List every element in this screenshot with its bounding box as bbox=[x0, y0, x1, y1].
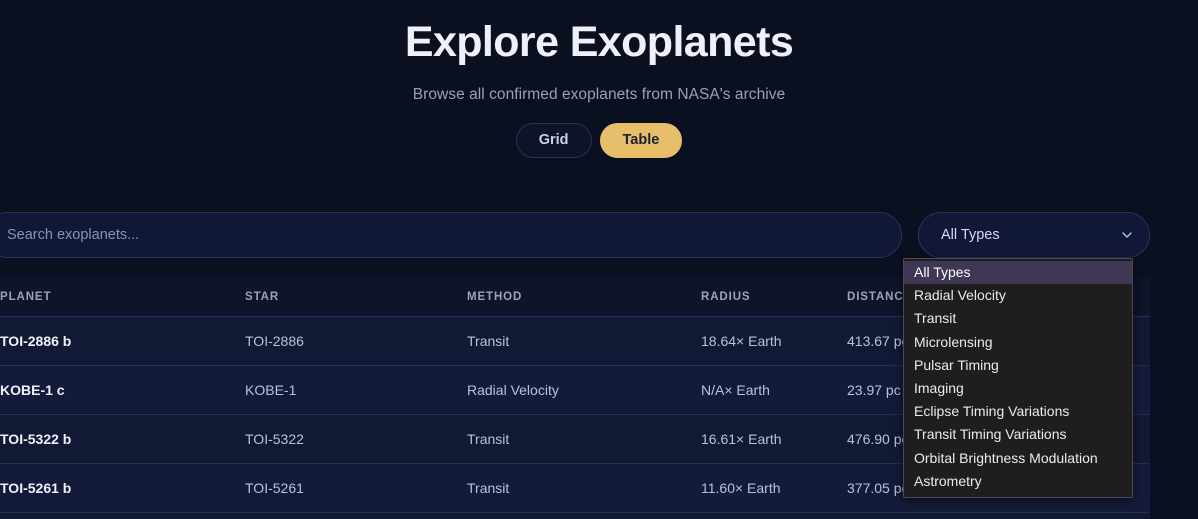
cell-planet: TOI-5322 b bbox=[0, 415, 229, 464]
cell-radius: N/A× Earth bbox=[685, 366, 831, 415]
cell-star: TOI-5261 bbox=[229, 464, 451, 513]
cell-method: Transit bbox=[451, 415, 685, 464]
dropdown-option[interactable]: Microlensing bbox=[904, 331, 1132, 354]
cell-radius: 11.60× Earth bbox=[685, 464, 831, 513]
cell-method: Transit bbox=[451, 464, 685, 513]
cell-planet: WASP-185 bNEW bbox=[0, 513, 229, 519]
dropdown-option[interactable]: Imaging bbox=[904, 377, 1132, 400]
dropdown-option[interactable]: Radial Velocity bbox=[904, 284, 1132, 307]
cell-planet: KOBE-1 c bbox=[0, 366, 229, 415]
cell-radius: 13.91× Earth bbox=[685, 513, 831, 519]
cell-star: WASP-185 bbox=[229, 513, 451, 519]
dropdown-option[interactable]: Orbital Brightness Modulation bbox=[904, 447, 1132, 470]
hero-section: Explore Exoplanets Browse all confirmed … bbox=[0, 0, 1198, 158]
table-row[interactable]: WASP-185 bNEWWASP-185Transit13.91× Earth… bbox=[0, 513, 1150, 519]
column-header-radius[interactable]: RADIUS bbox=[685, 277, 831, 317]
view-toggle-grid[interactable]: Grid bbox=[516, 123, 592, 158]
type-filter-dropdown[interactable]: All TypesRadial VelocityTransitMicrolens… bbox=[903, 258, 1133, 498]
dropdown-option[interactable]: Eclipse Timing Variations bbox=[904, 400, 1132, 423]
cell-planet: TOI-5261 b bbox=[0, 464, 229, 513]
page-root: Explore Exoplanets Browse all confirmed … bbox=[0, 0, 1198, 519]
dropdown-option[interactable]: Pulsar Timing bbox=[904, 354, 1132, 377]
type-filter-select[interactable]: All Types bbox=[918, 212, 1150, 258]
search-input[interactable] bbox=[0, 212, 902, 258]
cell-planet: TOI-2886 b bbox=[0, 317, 229, 366]
cell-method: Transit bbox=[451, 513, 685, 519]
dropdown-option[interactable]: Transit Timing Variations bbox=[904, 423, 1132, 446]
cell-radius: 18.64× Earth bbox=[685, 317, 831, 366]
view-toggle: Grid Table bbox=[0, 123, 1198, 158]
cell-method: Transit bbox=[451, 317, 685, 366]
type-filter-wrapper: All Types bbox=[918, 212, 1150, 258]
dropdown-option[interactable]: Astrometry bbox=[904, 470, 1132, 493]
cell-distance: 134.65 pc bbox=[831, 513, 1150, 519]
view-toggle-table[interactable]: Table bbox=[600, 123, 683, 158]
cell-star: TOI-2886 bbox=[229, 317, 451, 366]
controls-row: All Types bbox=[0, 212, 1150, 258]
cell-star: KOBE-1 bbox=[229, 366, 451, 415]
dropdown-option[interactable]: Transit bbox=[904, 307, 1132, 330]
page-subtitle: Browse all confirmed exoplanets from NAS… bbox=[0, 86, 1198, 104]
cell-method: Radial Velocity bbox=[451, 366, 685, 415]
cell-star: TOI-5322 bbox=[229, 415, 451, 464]
column-header-star[interactable]: STAR bbox=[229, 277, 451, 317]
cell-radius: 16.61× Earth bbox=[685, 415, 831, 464]
page-title: Explore Exoplanets bbox=[0, 18, 1198, 67]
dropdown-option[interactable]: All Types bbox=[904, 261, 1132, 284]
column-header-planet[interactable]: PLANET bbox=[0, 277, 229, 317]
column-header-method[interactable]: METHOD bbox=[451, 277, 685, 317]
